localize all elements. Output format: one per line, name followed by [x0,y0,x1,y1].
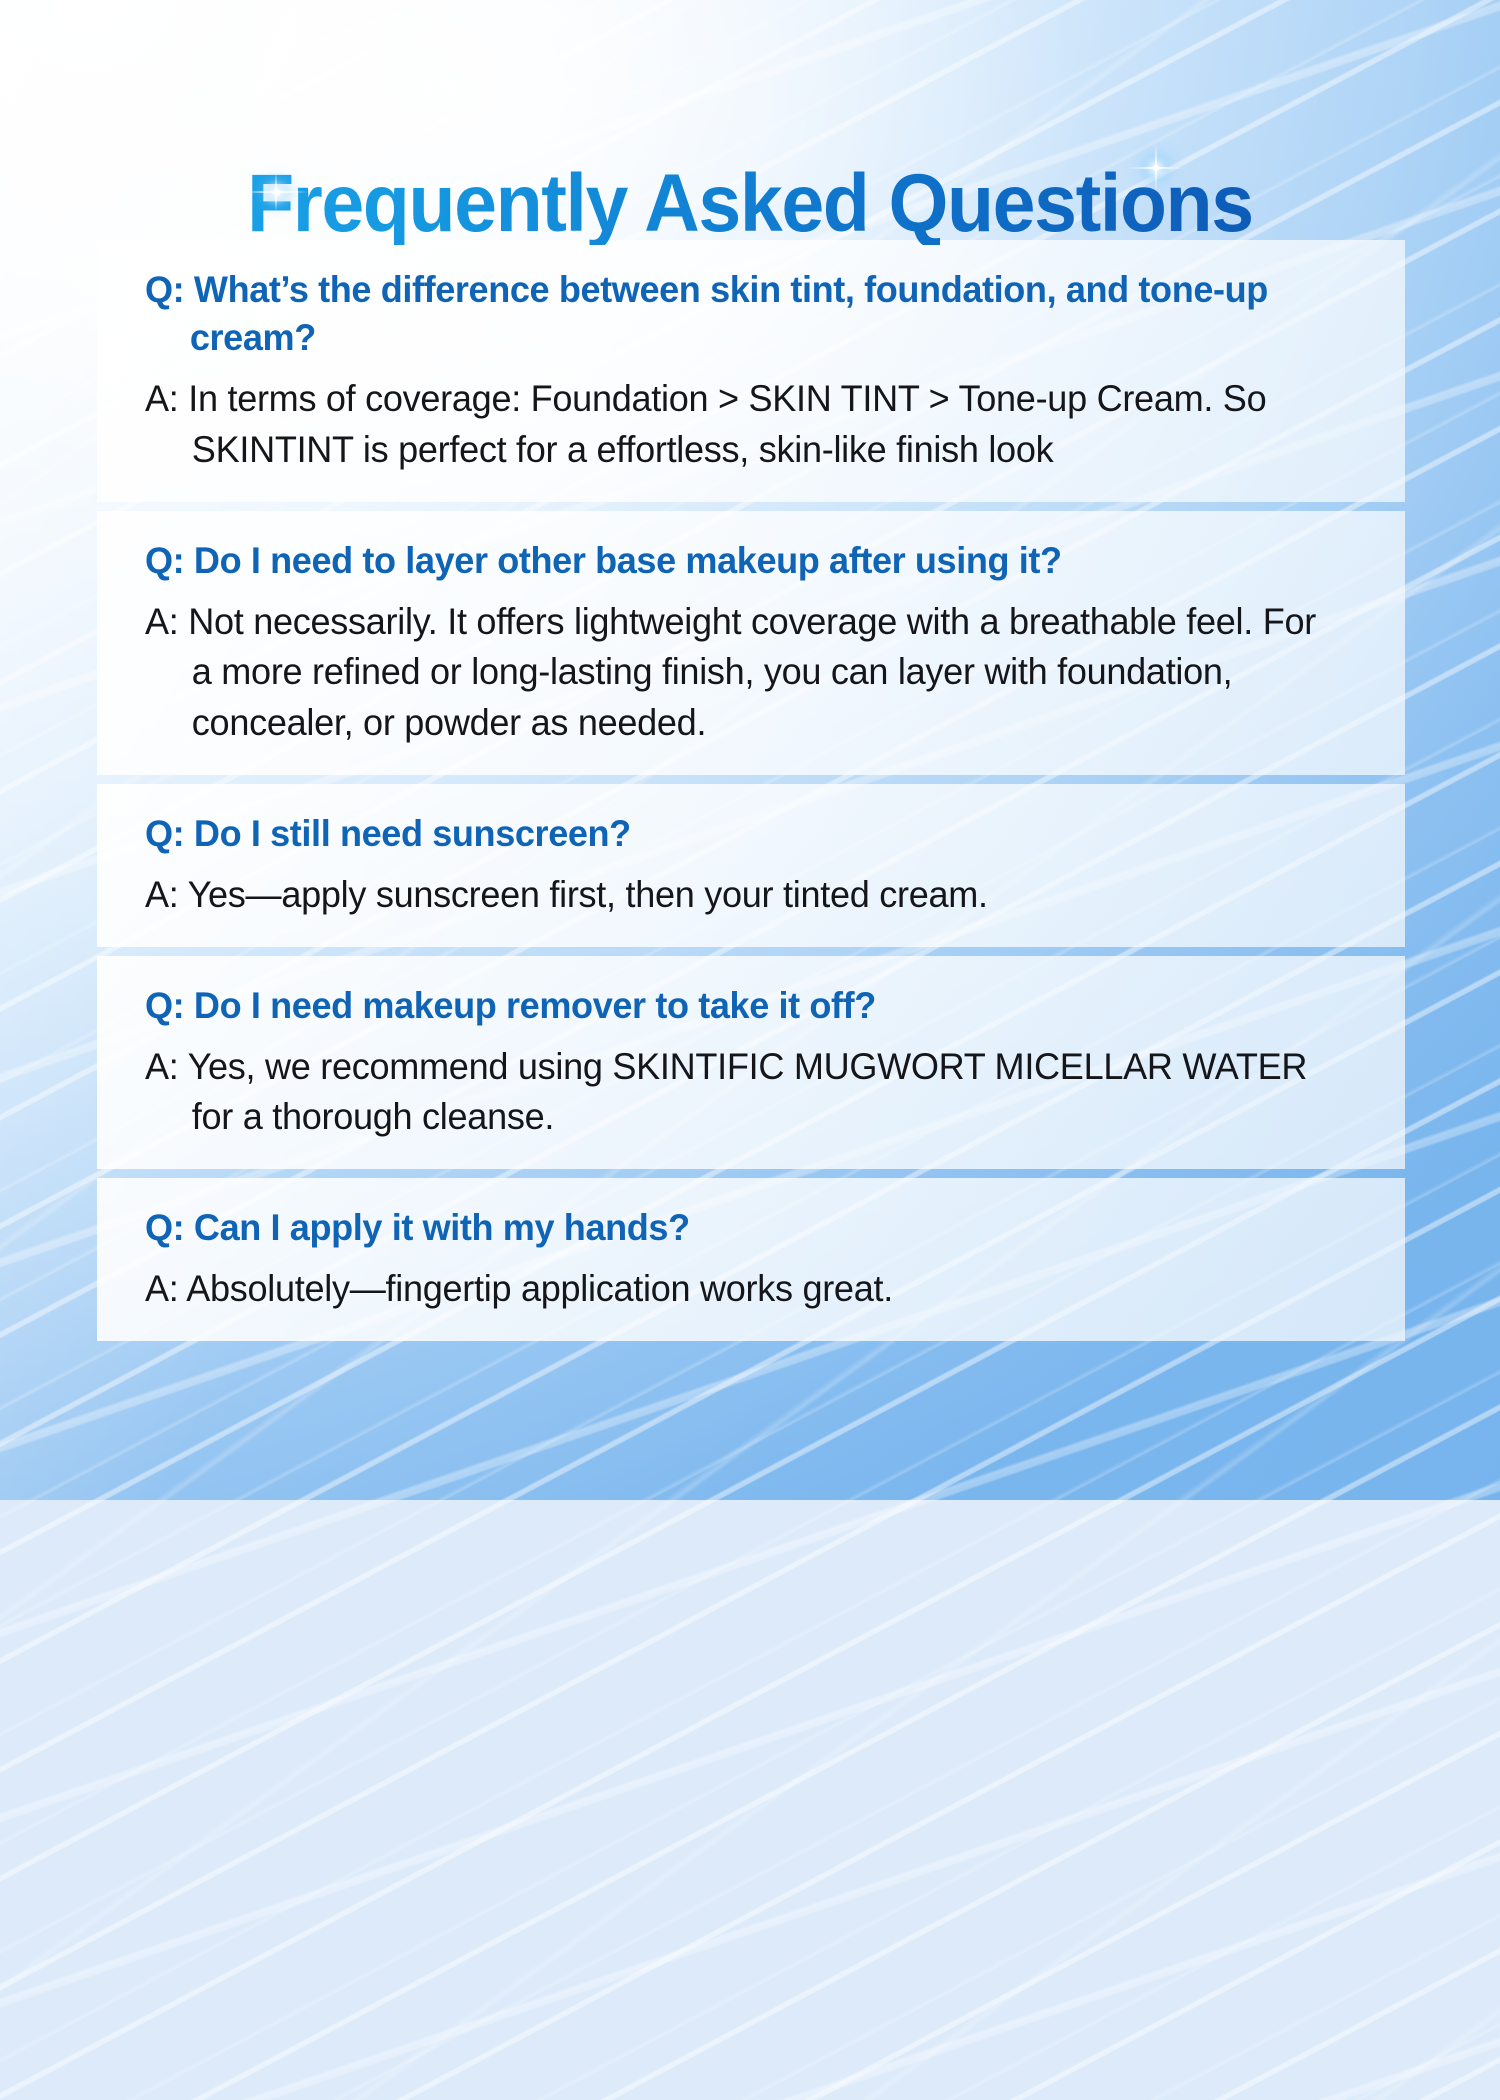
faq-answer: A: Not necessarily. It offers lightweigh… [145,597,1340,749]
faq-question: Q: Do I need makeup remover to take it o… [145,982,1340,1030]
page-title: Frequently Asked Questions [247,163,1253,245]
faq-question: Q: Do I need to layer other base makeup … [145,537,1340,585]
faq-item[interactable]: Q: Can I apply it with my hands? A: Abso… [97,1178,1405,1341]
faq-item[interactable]: Q: Do I need makeup remover to take it o… [97,956,1405,1169]
faq-answer: A: Yes, we recommend using SKINTIFIC MUG… [145,1042,1340,1143]
faq-question: Q: Do I still need sunscreen? [145,810,1340,858]
faq-list: Q: What’s the difference between skin ti… [97,240,1405,1350]
faq-item[interactable]: Q: Do I need to layer other base makeup … [97,511,1405,775]
faq-answer: A: In terms of coverage: Foundation > SK… [145,374,1340,475]
faq-question: Q: Can I apply it with my hands? [145,1204,1340,1252]
page-header: Frequently Asked Questions [0,108,1500,300]
faq-answer: A: Absolutely—fingertip application work… [145,1264,1340,1315]
faq-answer: A: Yes—apply sunscreen first, then your … [145,870,1340,921]
faq-item[interactable]: Q: Do I still need sunscreen? A: Yes—app… [97,784,1405,947]
